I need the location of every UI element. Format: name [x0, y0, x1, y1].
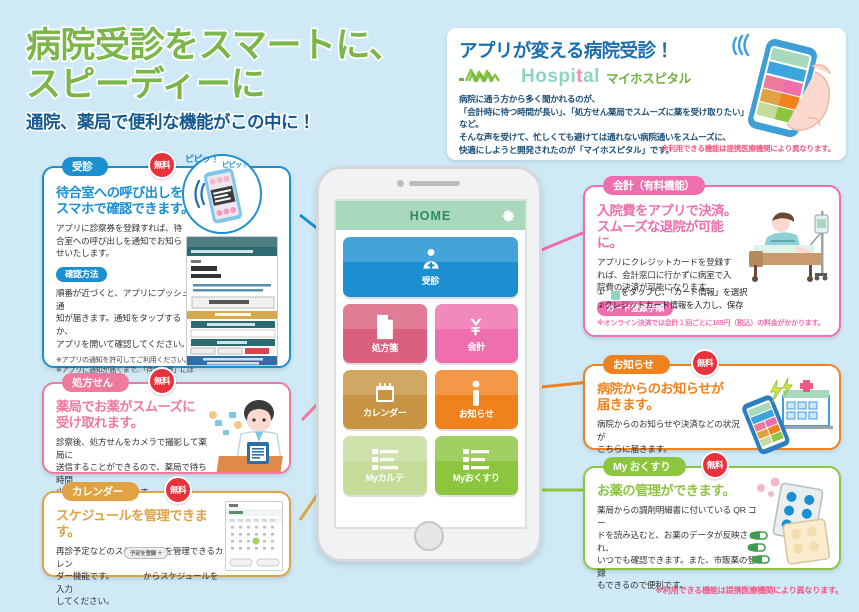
card-calendar-caption: カレンダー [62, 482, 139, 501]
hospital-notify-illustration [741, 376, 833, 452]
app-screen-title: HOME [410, 209, 452, 223]
card-shohosen-caption: 処方せん [62, 373, 129, 392]
app-tile-label: Myカルテ [366, 471, 404, 484]
doctor-icon [418, 247, 444, 273]
card-shohosen-headline: 薬局でお薬がスムーズに 受け取れます。 [56, 399, 207, 431]
card-jushin-body2: 順番が近づくと、アプリにプッシュ通 知が届きます。通知をタップするか、 アプリを… [56, 287, 194, 350]
card-kaikei-headline: 入院費をアプリで決済。 スムーズな退院が可能に。 [597, 203, 744, 251]
phone-home-button[interactable] [414, 521, 444, 551]
pharmacist-illustration [207, 398, 285, 472]
app-tile-お知らせ[interactable]: お知らせ [435, 370, 519, 429]
app-tile-label: お知らせ [459, 407, 494, 420]
gear-icon[interactable] [501, 208, 516, 223]
card-jushin: 受診 無料 待合室への呼び出しを スマホで確認できます。 アプリに診察券を登録す… [42, 166, 291, 368]
tile-row: MyカルテMyおくすり [343, 436, 518, 495]
calendar-icon [373, 381, 397, 405]
card-jushin-caption: 受診 [62, 157, 108, 176]
headline-sub: 通院、薬局で便利な機能がこの中に！ [26, 113, 446, 132]
card-okusuri: My おくすり 無料 お薬の管理ができます。 薬局からの調剤明細書に付いている … [583, 466, 841, 570]
card-jushin-sublabel: 確認方法 [56, 267, 107, 282]
app-tile-受診[interactable]: 受診 [343, 237, 518, 297]
wave-logo-icon [459, 67, 515, 87]
card-okusuri-body: 薬局からの調剤明細書に付いている QR コー ドを読み込むと、お薬のデータが反映… [597, 504, 760, 592]
jushin-mini-screenshot [186, 236, 278, 366]
phone-speaker-bar [409, 181, 460, 186]
intro-panel: アプリが変える病院受診！ Hospital マイホスピタル 病院に通う方から多く… [447, 28, 846, 160]
gear-icon-inline [611, 291, 620, 300]
card-calendar-headline: スケジュールを管理できます。 [56, 508, 226, 540]
card-calendar-free-badge: 無料 [164, 476, 192, 504]
card-kaikei-fineprint: ※オンライン決済では会計１回ごとに165円（税込）の料金がかかります。 [597, 318, 839, 328]
card-oshirase: お知らせ 無料 病院からのお知らせが 届きます。 病院からのお知らせや決済などの… [583, 364, 841, 450]
list-icon [463, 448, 489, 470]
card-oshirase-caption: お知らせ [603, 355, 670, 374]
card-shohosen-free-badge: 無料 [148, 367, 176, 395]
list-icon [372, 448, 398, 470]
hand-phone-illustration [720, 32, 838, 152]
tile-row: 受診 [343, 237, 518, 297]
phone-screen: HOME 受診処方箋会計カレンダーお知らせMyカルテMyおくすり [334, 199, 527, 529]
document-icon [373, 314, 396, 340]
card-oshirase-headline: 病院からのお知らせが 届きます。 [597, 381, 746, 413]
info-icon [470, 380, 482, 406]
headline-main: 病院受診をスマートに、 スピーディーに [26, 26, 446, 104]
calendar-add-chip[interactable]: 予定を登録 ＋ [124, 547, 168, 559]
app-tile-処方箋[interactable]: 処方箋 [343, 304, 427, 363]
pill-sheets-illustration [749, 478, 835, 566]
bubble-text-1: ピピッ！ [185, 152, 219, 165]
phone-camera-dot [397, 180, 404, 187]
page-headline: 病院受診をスマートに、 スピーディーに 通院、薬局で便利な機能がこの中に！ [26, 26, 446, 133]
app-tile-label: Myおくすり [453, 471, 500, 484]
tile-row: 処方箋会計 [343, 304, 518, 363]
app-tile-Myカルテ[interactable]: Myカルテ [343, 436, 427, 495]
card-shohosen: 処方せん 無料 薬局でお薬がスムーズに 受け取れます。 診察後、処方せんをカメラ… [42, 382, 291, 474]
app-tile-label: 処方箋 [372, 341, 398, 354]
app-tile-label: 会計 [468, 340, 485, 353]
bubble-text-2: ピピッ！ [222, 160, 248, 170]
card-calendar: カレンダー 無料 スケジュールを管理できます。 再診予定などのスケジュールを管理… [42, 491, 291, 577]
yen-icon [465, 315, 487, 339]
tile-row: カレンダーお知らせ [343, 370, 518, 429]
app-tile-grid: 受診処方箋会計カレンダーお知らせMyカルテMyおくすり [336, 230, 525, 502]
card-okusuri-headline: お薬の管理ができます。 [597, 483, 760, 499]
card-jushin-free-badge: 無料 [148, 151, 176, 179]
card-jushin-headline: 待合室への呼び出しを スマホで確認できます。 [56, 185, 194, 217]
logo-japanese-name: マイホスピタル [606, 68, 691, 87]
app-tile-label: カレンダー [363, 406, 407, 419]
card-okusuri-free-badge: 無料 [701, 451, 729, 479]
card-kaikei: 会計（有料機能） 入院費をアプリで決済。 スムーズな退院が可能に。 アプリにクレ… [583, 185, 841, 337]
patient-bed-illustration [745, 205, 835, 291]
app-tile-Myおくすり[interactable]: Myおくすり [435, 436, 519, 495]
phone-mockup: HOME 受診処方箋会計カレンダーお知らせMyカルテMyおくすり [316, 166, 542, 562]
card-oshirase-free-badge: 無料 [691, 349, 719, 377]
card-okusuri-caption: My おくすり [603, 457, 686, 476]
card-jushin-body: アプリに診察券を登録すれば、待 合室への呼び出しを通知でお知ら せいたします。 [56, 222, 194, 260]
calendar-mini-screenshot [225, 501, 283, 571]
app-status-bar: HOME [336, 201, 525, 230]
app-tile-会計[interactable]: 会計 [435, 304, 519, 363]
infographic-root: 病院受診をスマートに、 スピーディーに 通院、薬局で便利な機能がこの中に！ アプ… [0, 0, 859, 612]
card-oshirase-body: 病院からのお知らせや決済などの状況が こちらに届きます。 [597, 418, 746, 456]
logo-wordmark: Hospital [521, 66, 600, 88]
card-kaikei-caption: 会計（有料機能） [603, 176, 705, 195]
app-tile-カレンダー[interactable]: カレンダー [343, 370, 427, 429]
app-tile-label: 受診 [422, 274, 439, 287]
